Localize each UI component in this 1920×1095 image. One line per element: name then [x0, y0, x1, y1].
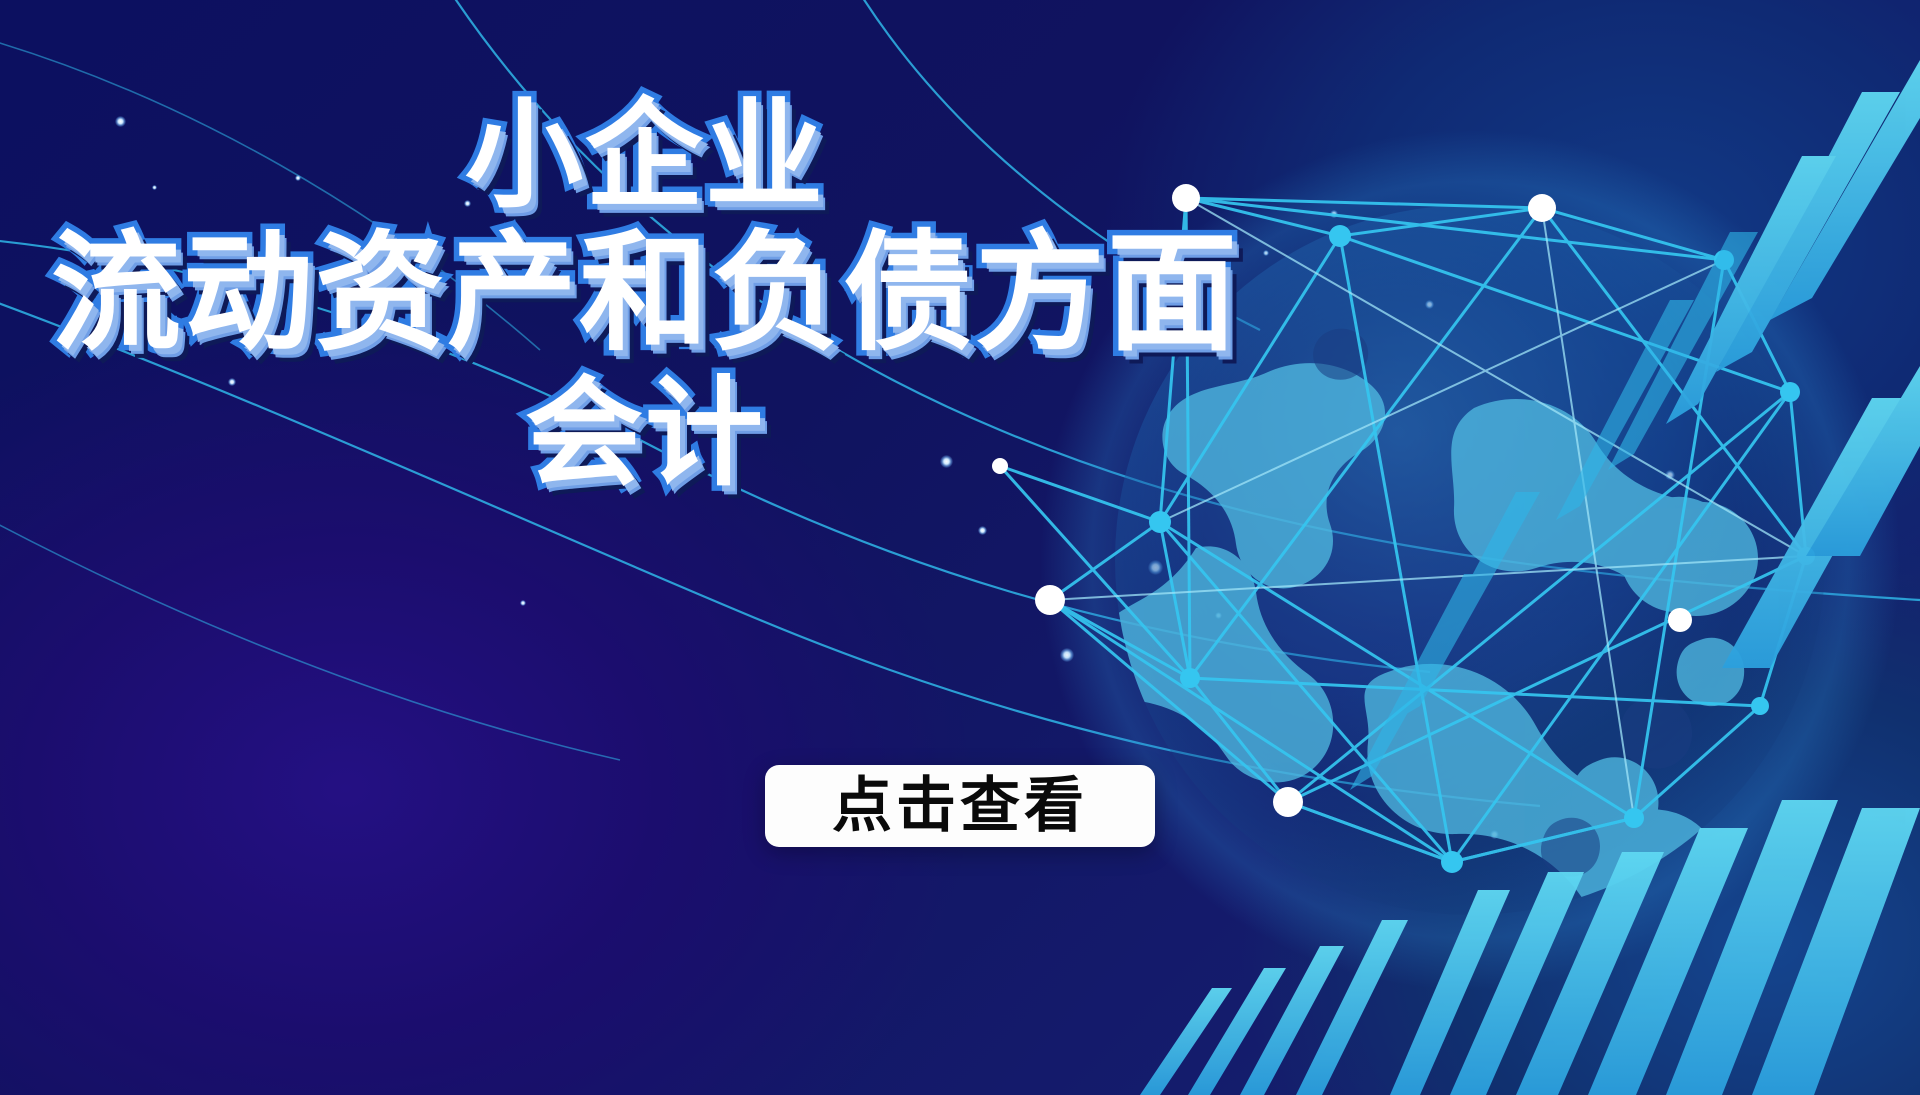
banner-title: 小企业 流动资产和负债方面 会计 — [0, 96, 1290, 492]
view-details-button[interactable]: 点击查看 — [765, 765, 1155, 847]
title-line-1: 小企业 — [0, 96, 1290, 214]
view-details-button-label: 点击查看 — [832, 776, 1088, 836]
title-line-2: 流动资产和负债方面 — [0, 228, 1290, 358]
title-line-3: 会计 — [0, 374, 1290, 492]
promo-banner: 小企业 流动资产和负债方面 会计 点击查看 — [0, 0, 1920, 1095]
